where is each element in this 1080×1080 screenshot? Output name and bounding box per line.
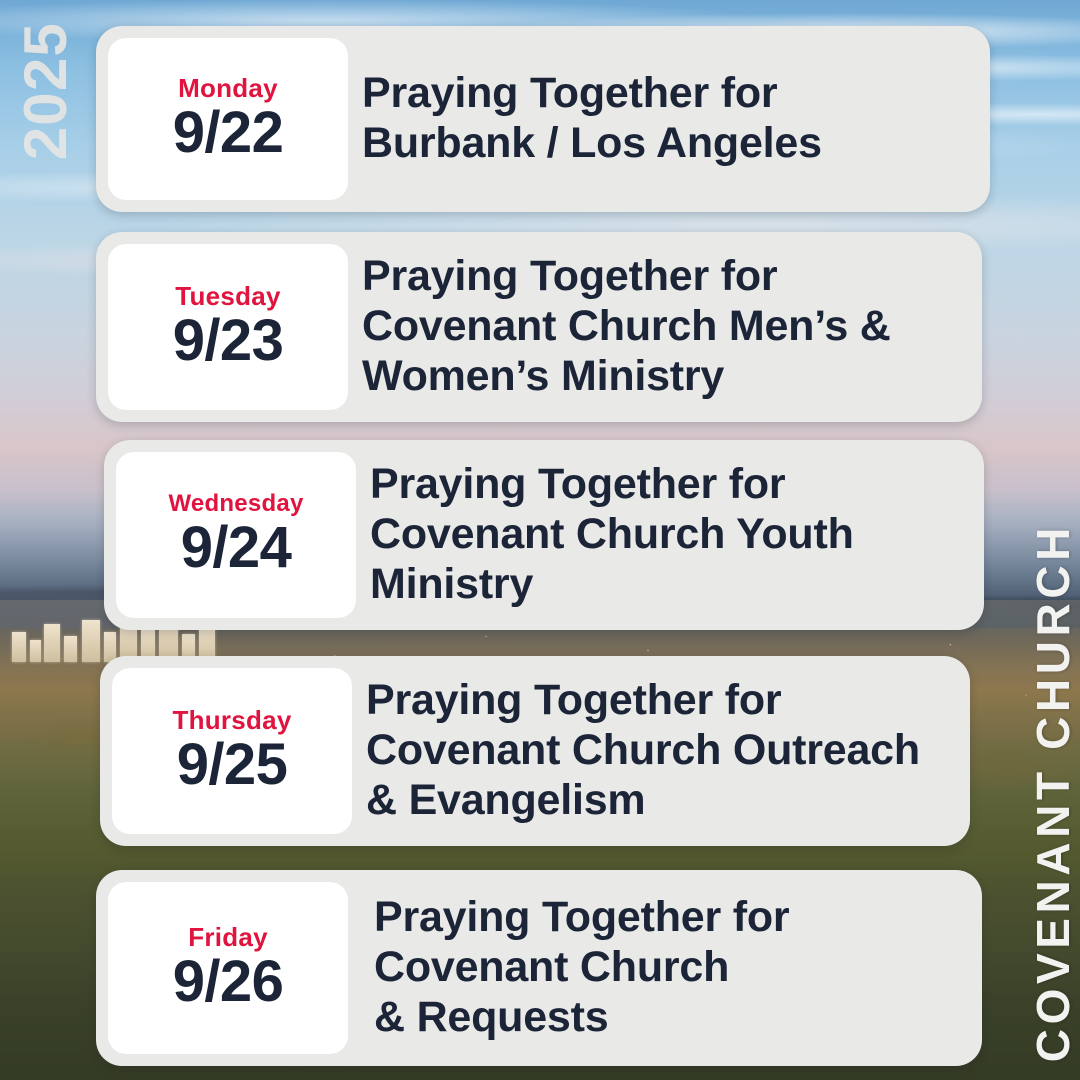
weekday-label: Tuesday [175,283,280,309]
date-box-tuesday: Tuesday 9/23 [108,244,348,410]
prayer-schedule-poster: 2025 COVENANT CHURCH Monday 9/22 Praying… [0,0,1080,1080]
date-box-wednesday: Wednesday 9/24 [116,452,356,618]
prayer-topic-title: Praying Together for Covenant Church Men… [348,232,982,422]
date-number: 9/26 [173,952,284,1013]
date-box-friday: Friday 9/26 [108,882,348,1054]
date-box-monday: Monday 9/22 [108,38,348,200]
schedule-list: Monday 9/22 Praying Together for Burbank… [0,0,1080,1080]
weekday-label: Thursday [172,707,291,733]
schedule-row-thursday[interactable]: Thursday 9/25 Praying Together for Coven… [100,656,970,846]
date-number: 9/22 [173,103,284,164]
schedule-row-tuesday[interactable]: Tuesday 9/23 Praying Together for Covena… [96,232,982,422]
date-box-thursday: Thursday 9/25 [112,668,352,834]
date-number: 9/23 [173,311,284,372]
prayer-topic-title: Praying Together for Burbank / Los Angel… [348,26,990,212]
schedule-row-wednesday[interactable]: Wednesday 9/24 Praying Together for Cove… [104,440,984,630]
prayer-topic-title: Praying Together for Covenant Church You… [356,440,984,630]
weekday-label: Monday [178,75,278,101]
schedule-row-friday[interactable]: Friday 9/26 Praying Together for Covenan… [96,870,982,1066]
prayer-topic-title: Praying Together for Covenant Church Out… [352,656,970,846]
date-number: 9/24 [181,518,292,579]
schedule-row-monday[interactable]: Monday 9/22 Praying Together for Burbank… [96,26,990,212]
weekday-label: Friday [188,924,268,950]
prayer-topic-title: Praying Together for Covenant Church & R… [348,870,982,1066]
weekday-label: Wednesday [168,492,303,516]
date-number: 9/25 [177,735,288,796]
